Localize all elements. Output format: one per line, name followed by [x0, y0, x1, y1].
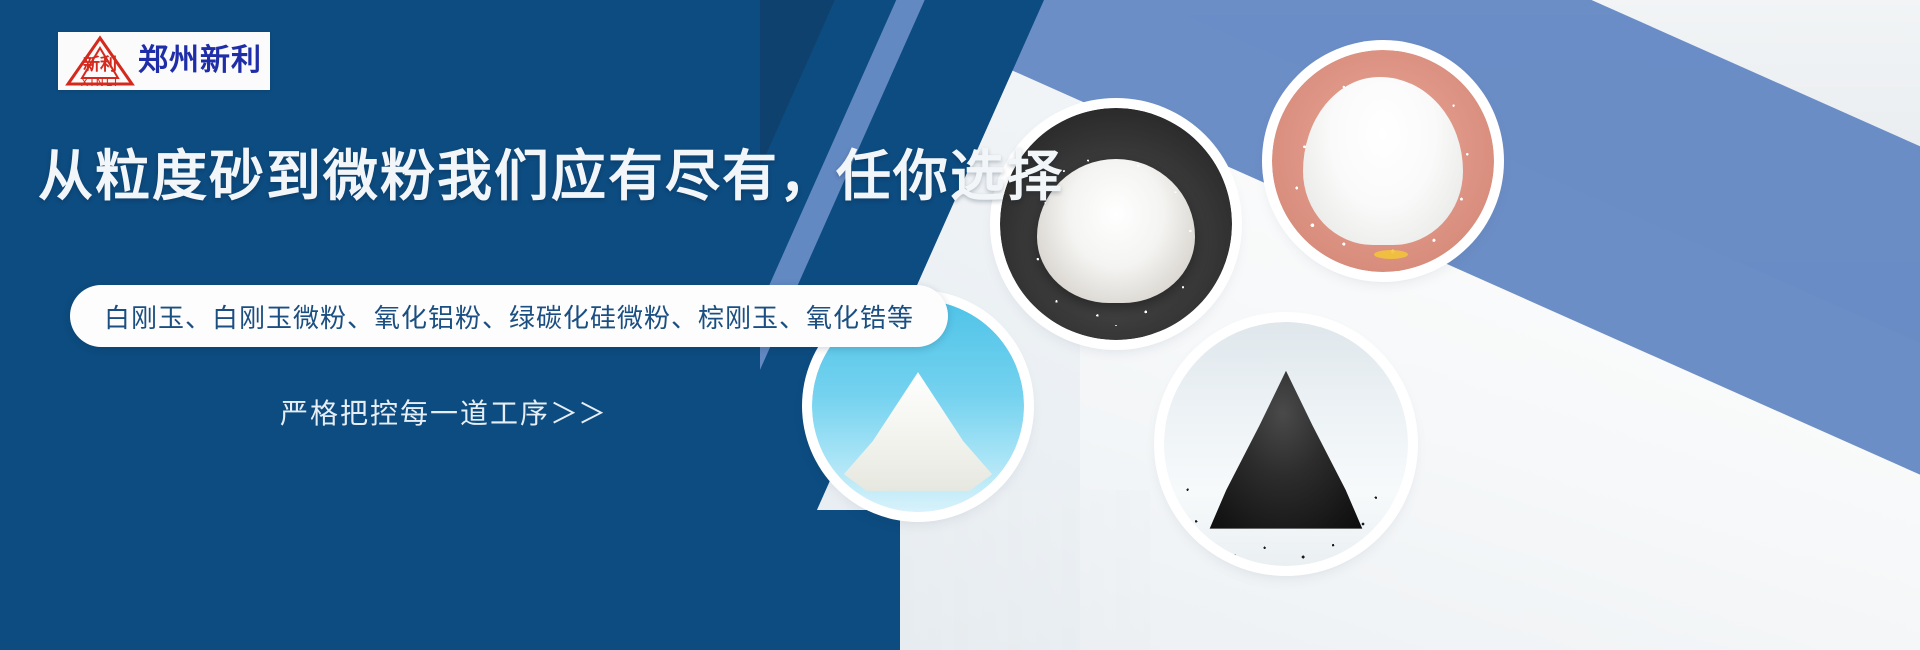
- hero-headline: 从粒度砂到微粉我们应有尽有，任你选择: [38, 148, 1064, 206]
- logo-pinyin: XINLI: [81, 76, 119, 88]
- tagline-text: 严格把控每一道工序: [280, 397, 550, 430]
- abrasive-pile: [837, 372, 998, 491]
- product-image-white-powder-pink: [1272, 50, 1494, 272]
- company-logo[interactable]: 新利 XINLI 郑州新利: [58, 32, 270, 90]
- scattered-grains: [1285, 72, 1480, 258]
- product-image-white-grit: [1000, 108, 1232, 340]
- product-image-black-grit: [1164, 322, 1408, 566]
- tagline-arrows-icon: ＞＞: [550, 397, 606, 430]
- logo-company-name: 郑州新利: [138, 46, 262, 76]
- product-list-pill[interactable]: 白刚玉、白刚玉微粉、氧化铝粉、绿碳化硅微粉、棕刚玉、氧化锆等: [70, 285, 948, 347]
- product-photo: [1164, 322, 1408, 566]
- promotional-banner: 新利 XINLI 郑州新利 从粒度砂到微粉我们应有尽有，任你选择 白刚玉、白刚玉…: [0, 0, 1920, 650]
- triangle-logo-icon: 新利 XINLI: [64, 34, 136, 88]
- quality-tagline[interactable]: 严格把控每一道工序＞＞: [280, 392, 606, 432]
- product-photo: [1000, 108, 1232, 340]
- logo-mark-characters: 新利: [83, 54, 117, 75]
- navy-bottom-panel: [0, 510, 900, 650]
- product-photo: [1272, 50, 1494, 272]
- product-list-text: 白刚玉、白刚玉微粉、氧化铝粉、绿碳化硅微粉、棕刚玉、氧化锆等: [104, 298, 914, 335]
- color-accent: [1374, 250, 1408, 259]
- scattered-grains: [1179, 429, 1394, 561]
